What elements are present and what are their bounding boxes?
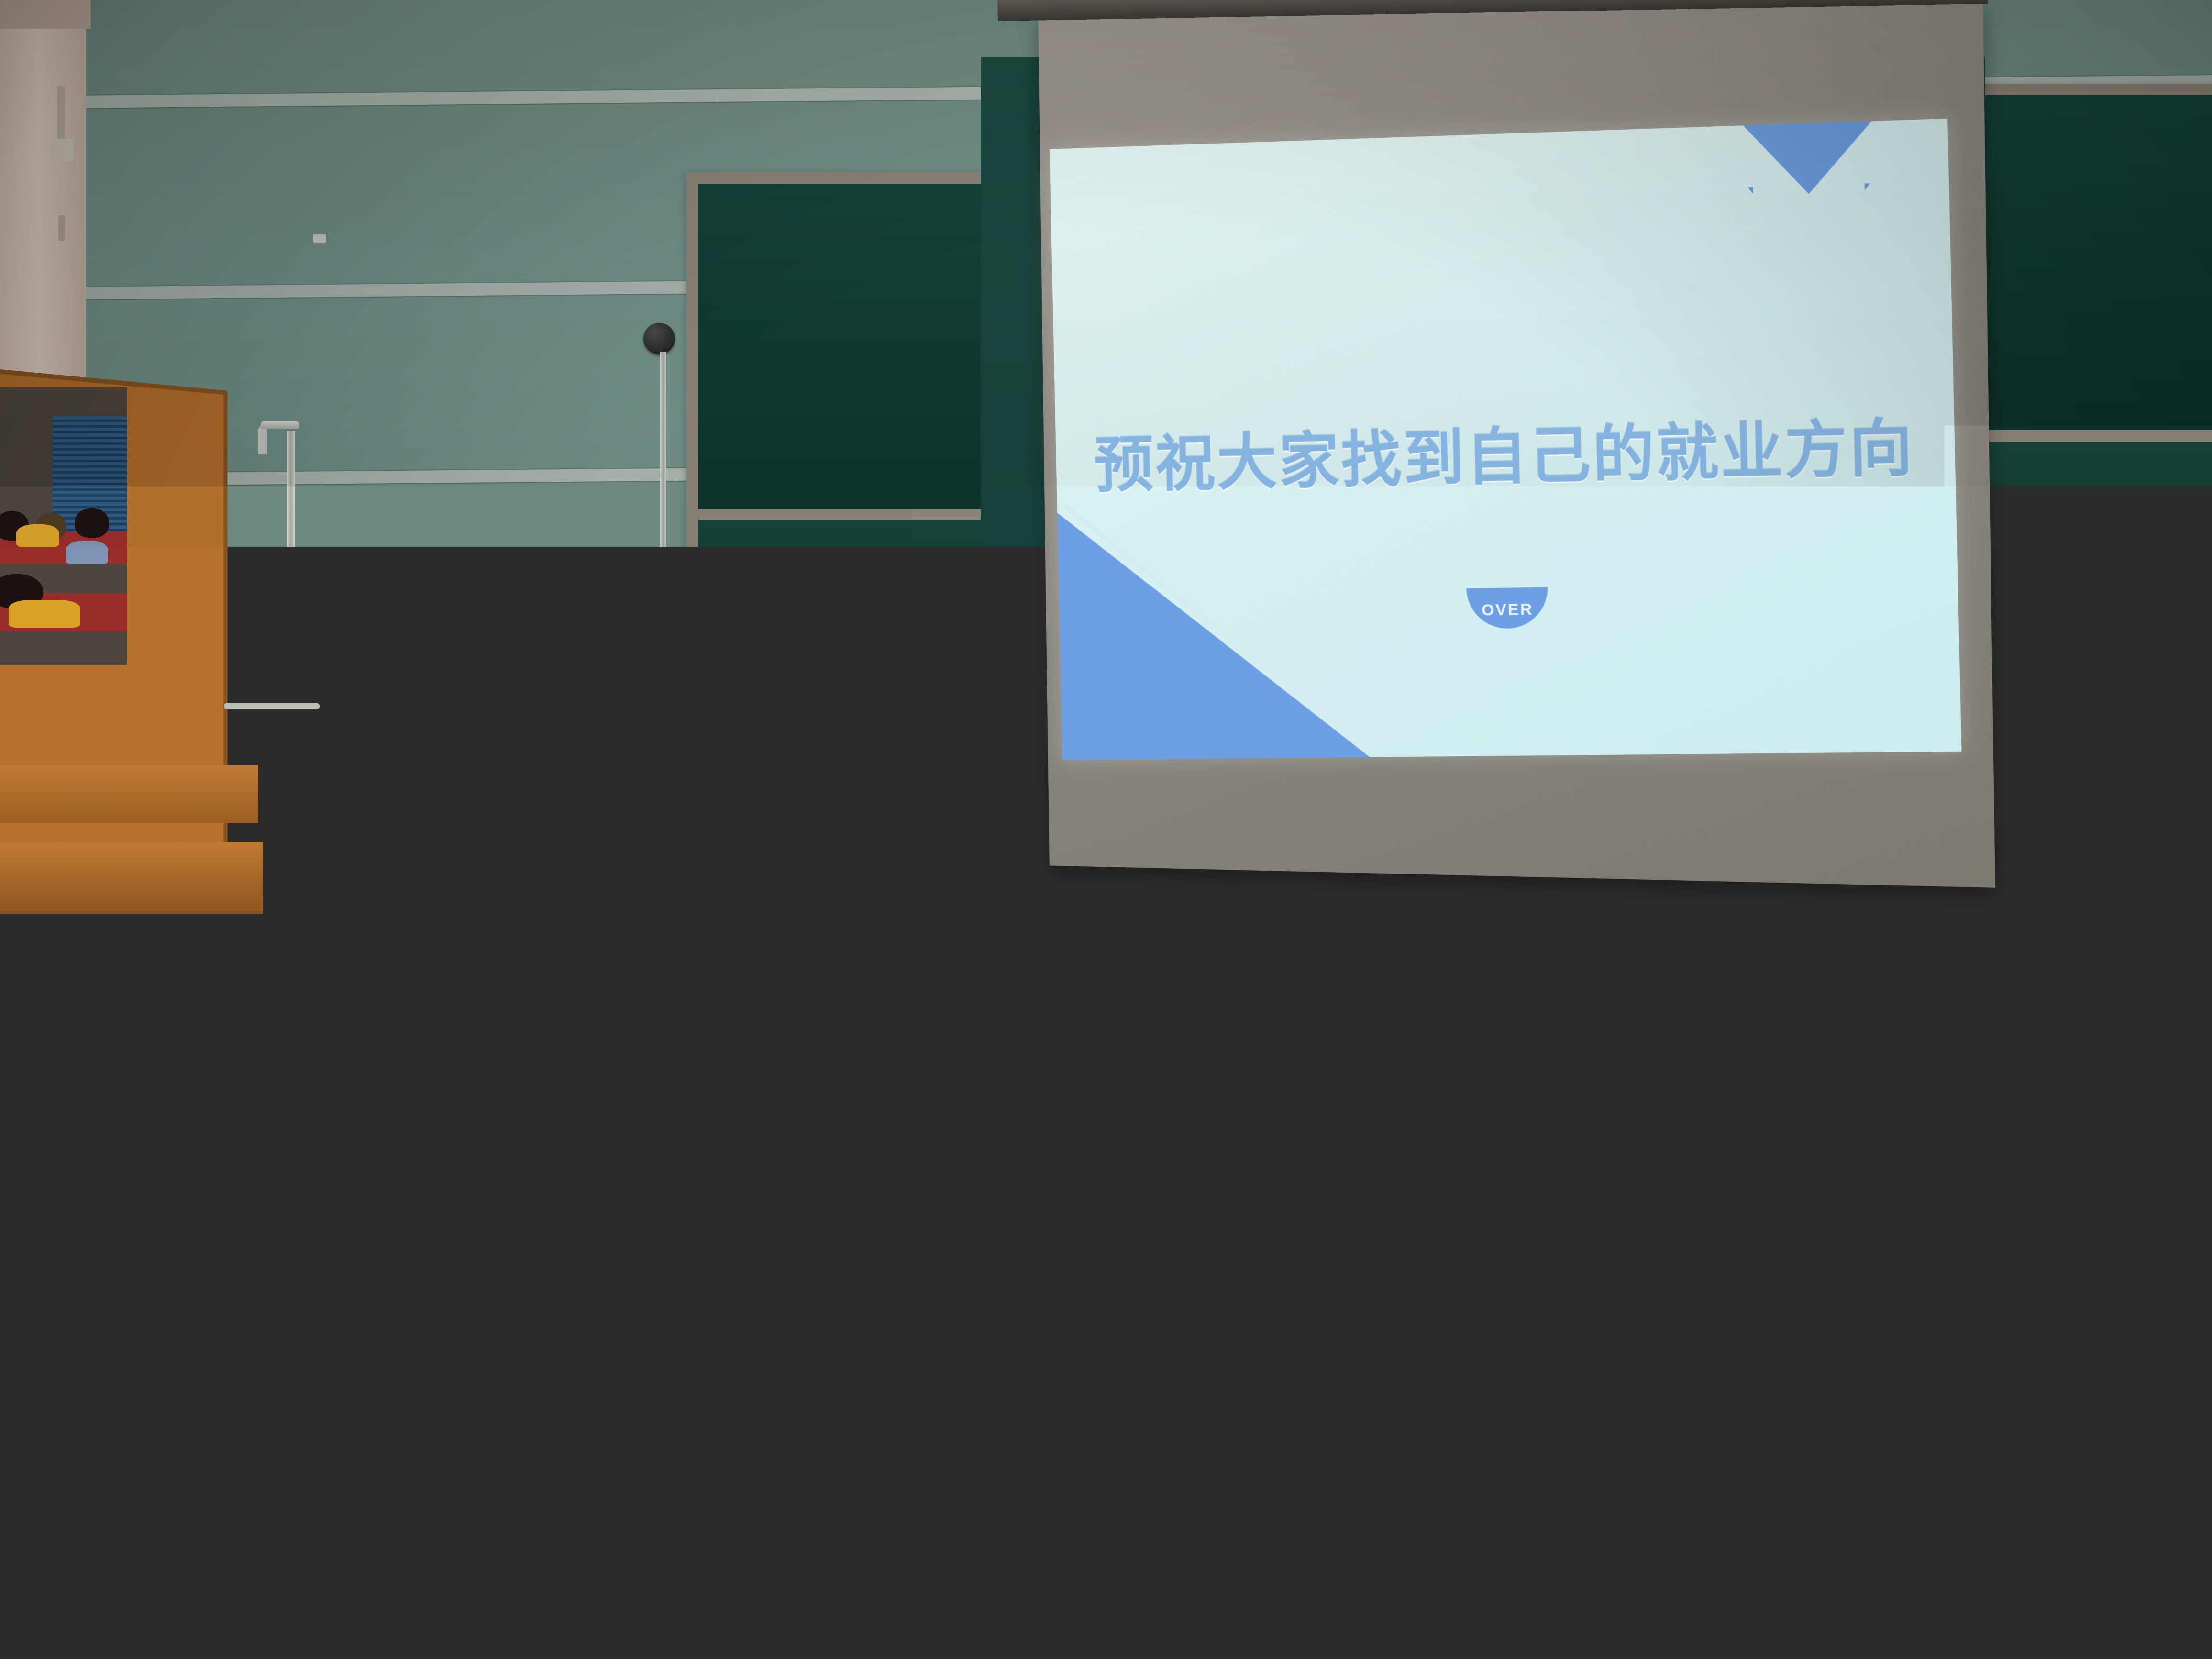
far-room-person-yellow xyxy=(16,524,59,547)
outlet-socket[interactable] xyxy=(1504,1113,1526,1131)
student-blue-shirt-scrunchie xyxy=(1277,1110,1325,1144)
drink-cup xyxy=(1076,1545,1167,1659)
left-pillar-cap xyxy=(0,0,91,29)
bottle-neck xyxy=(1809,1179,1824,1208)
side-window-opening xyxy=(0,387,127,665)
bottle-cap xyxy=(1808,1167,1825,1182)
bottle-label xyxy=(1985,1221,2024,1250)
bottle-cap xyxy=(1411,1182,1429,1196)
outlet-socket[interactable] xyxy=(1458,1113,1481,1131)
chalk-rail xyxy=(981,899,1985,912)
bottle-body xyxy=(177,1608,234,1659)
wall-outlet-strip[interactable] xyxy=(1435,1112,1526,1131)
chalkboard-panel xyxy=(698,520,981,768)
side-cabinet-column-top xyxy=(1531,930,1924,942)
glasses-icon xyxy=(2046,1133,2061,1162)
bottle-label xyxy=(1469,1587,1540,1645)
far-room-person-yellow xyxy=(9,600,80,628)
university-emblem-icon xyxy=(813,1017,875,1079)
bottle-cap xyxy=(193,1593,219,1602)
cup-straw xyxy=(1118,1499,1129,1566)
slide-diagonal-stripe xyxy=(1063,498,1363,749)
cup-body xyxy=(1082,1571,1161,1659)
cup-lid xyxy=(1937,1511,2057,1542)
lecture-hall-scene: 预祝大家找到自己的就业方向 OVER xyxy=(0,0,2212,1659)
glasses-icon xyxy=(1563,1160,1576,1194)
far-room-person xyxy=(75,508,109,538)
ceiling-speaker-icon xyxy=(643,323,675,354)
fan-pole-elbow xyxy=(261,421,299,429)
wall-bracket-plate xyxy=(50,139,73,161)
bottle-neck xyxy=(1492,1488,1517,1537)
bottle-neck xyxy=(1998,1169,2012,1198)
fan-mount-arm xyxy=(258,426,267,454)
window-sill xyxy=(0,765,258,823)
chalkboard-panel xyxy=(1968,442,2212,713)
chalkboard-panel xyxy=(1968,95,2212,430)
outlet-socket[interactable] xyxy=(1436,1113,1458,1131)
cup-logo-icon xyxy=(1980,1550,2012,1593)
switch-cord xyxy=(2011,1043,2013,1112)
window-ledge xyxy=(0,842,263,914)
outlet-socket[interactable] xyxy=(1481,1113,1504,1131)
chalkboard-panel xyxy=(698,184,981,509)
fan-pole xyxy=(287,431,295,1272)
wall-switch[interactable] xyxy=(2002,1110,2022,1138)
presenter-sleeve xyxy=(640,885,696,997)
wall-bracket-stub xyxy=(58,215,65,241)
far-room-person-blue xyxy=(66,541,108,564)
bottle-cap xyxy=(1489,1469,1520,1493)
presentation-slide: 预祝大家找到自己的就业方向 OVER xyxy=(1050,119,1962,760)
wall-marking xyxy=(313,234,326,243)
water-bottle xyxy=(177,1593,234,1659)
paper-stack xyxy=(708,1516,804,1543)
bottle-cap xyxy=(1996,1158,2013,1172)
drink-cup xyxy=(1937,1464,2057,1659)
water-bottle xyxy=(1985,1158,2024,1270)
presenter-hair xyxy=(678,761,774,859)
fan-hub xyxy=(301,684,331,714)
slide-over-label: OVER xyxy=(1482,600,1534,620)
student-white-top-torso xyxy=(813,1593,1110,1659)
water-bottle xyxy=(1399,1182,1440,1296)
student-dark-top-torso xyxy=(450,1569,813,1659)
water-bottle xyxy=(1469,1469,1540,1659)
chalkboard-left xyxy=(686,172,993,780)
bottle-neck xyxy=(1413,1193,1427,1223)
podium-control-buttons[interactable] xyxy=(596,1028,631,1032)
podium-control-recess[interactable] xyxy=(584,1009,641,1029)
bottle-label xyxy=(1399,1246,1440,1275)
podium-vent-left xyxy=(622,1036,684,1122)
chalkboard-right xyxy=(1957,84,2212,725)
